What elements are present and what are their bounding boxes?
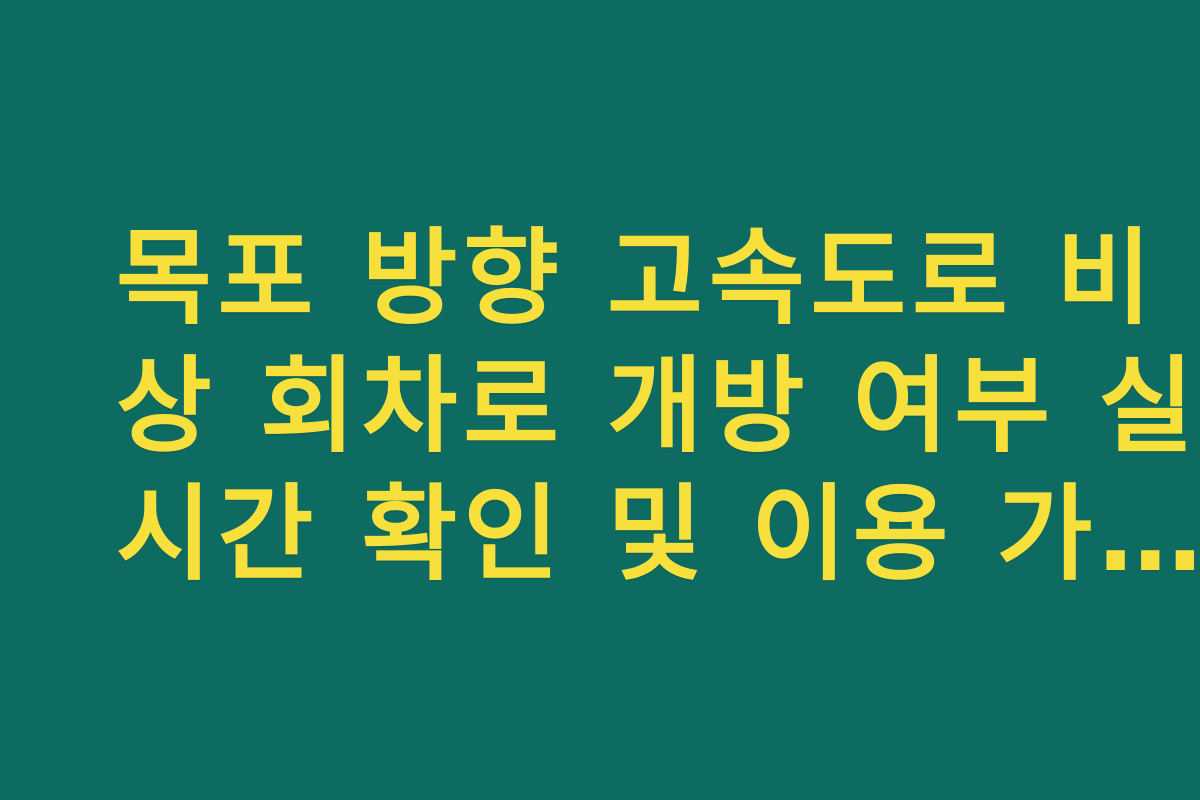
headline-block: 목포 방향 고속도로 비 상 회차로 개방 여부 실 시간 확인 및 이용 가… — [116, 214, 1092, 618]
headline-line-2: 상 회차로 개방 여부 실 — [116, 342, 1092, 470]
text-card: 목포 방향 고속도로 비 상 회차로 개방 여부 실 시간 확인 및 이용 가… — [0, 0, 1200, 800]
headline-line-3: 시간 확인 및 이용 가… — [116, 470, 1092, 598]
headline-line-1: 목포 방향 고속도로 비 — [116, 214, 1092, 342]
